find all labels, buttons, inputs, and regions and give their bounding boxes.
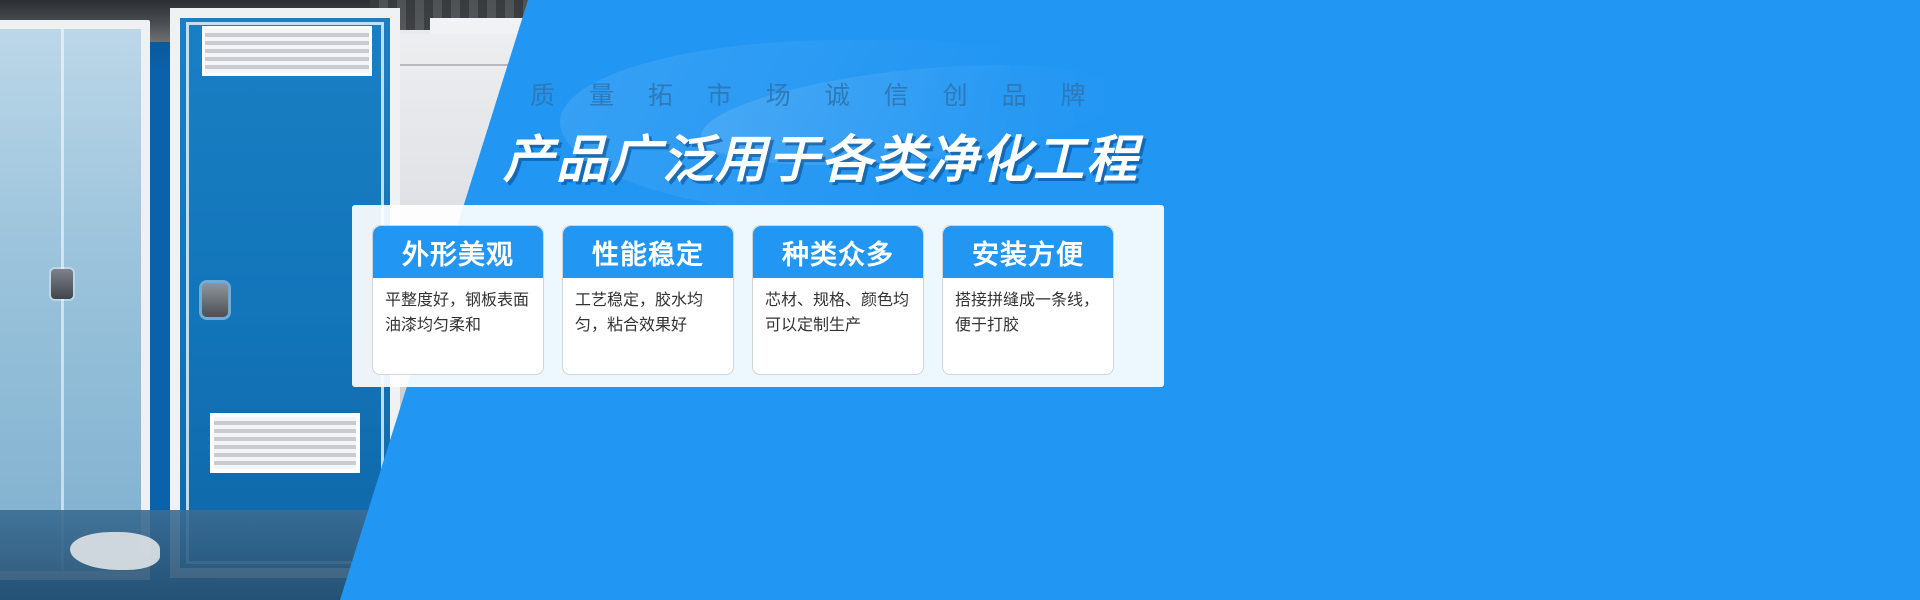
feature-card[interactable]: 性能稳定 工艺稳定，胶水均匀，粘合效果好 xyxy=(562,225,734,375)
feature-card-header: 种类众多 xyxy=(753,226,923,278)
feature-card-text: 工艺稳定，胶水均匀，粘合效果好 xyxy=(575,288,721,338)
feature-card-body: 芯材、规格、颜色均可以定制生产 xyxy=(753,278,923,374)
vent-louver-bottom-icon xyxy=(210,413,360,473)
feature-card-body: 搭接拼缝成一条线，便于打胶 xyxy=(943,278,1113,374)
feature-card[interactable]: 安装方便 搭接拼缝成一条线，便于打胶 xyxy=(942,225,1114,375)
feature-card[interactable]: 种类众多 芯材、规格、颜色均可以定制生产 xyxy=(752,225,924,375)
feature-card-header: 安装方便 xyxy=(943,226,1113,278)
glass-door-cabin xyxy=(0,20,150,580)
feature-card-title: 种类众多 xyxy=(782,233,894,272)
glass-seam xyxy=(61,29,64,571)
feature-card-title: 外形美观 xyxy=(402,233,514,272)
feature-card-text: 平整度好，钢板表面油漆均匀柔和 xyxy=(385,288,531,338)
feature-cards-row: 外形美观 平整度好，钢板表面油漆均匀柔和 性能稳定 工艺稳定，胶水均匀，粘合效果… xyxy=(372,225,1114,375)
vent-louver-top-icon xyxy=(202,26,372,76)
door-lock-icon xyxy=(202,283,228,317)
feature-card-title: 性能稳定 xyxy=(592,233,704,272)
feature-card-header: 外形美观 xyxy=(373,226,543,278)
feature-card-text: 搭接拼缝成一条线，便于打胶 xyxy=(955,288,1101,338)
feature-card-title: 安装方便 xyxy=(972,233,1084,272)
promo-banner: 质 量 拓 市 场 诚 信 创 品 牌 产品广泛用于各类净化工程 外形美观 平整… xyxy=(0,0,1920,600)
feature-card-body: 工艺稳定，胶水均匀，粘合效果好 xyxy=(563,278,733,374)
feature-cards-panel: 外形美观 平整度好，钢板表面油漆均匀柔和 性能稳定 工艺稳定，胶水均匀，粘合效果… xyxy=(352,205,1164,387)
feature-card[interactable]: 外形美观 平整度好，钢板表面油漆均匀柔和 xyxy=(372,225,544,375)
feature-card-text: 芯材、规格、颜色均可以定制生产 xyxy=(765,288,911,338)
door-handle-icon xyxy=(51,269,73,299)
feature-card-body: 平整度好，钢板表面油漆均匀柔和 xyxy=(373,278,543,374)
feature-card-header: 性能稳定 xyxy=(563,226,733,278)
